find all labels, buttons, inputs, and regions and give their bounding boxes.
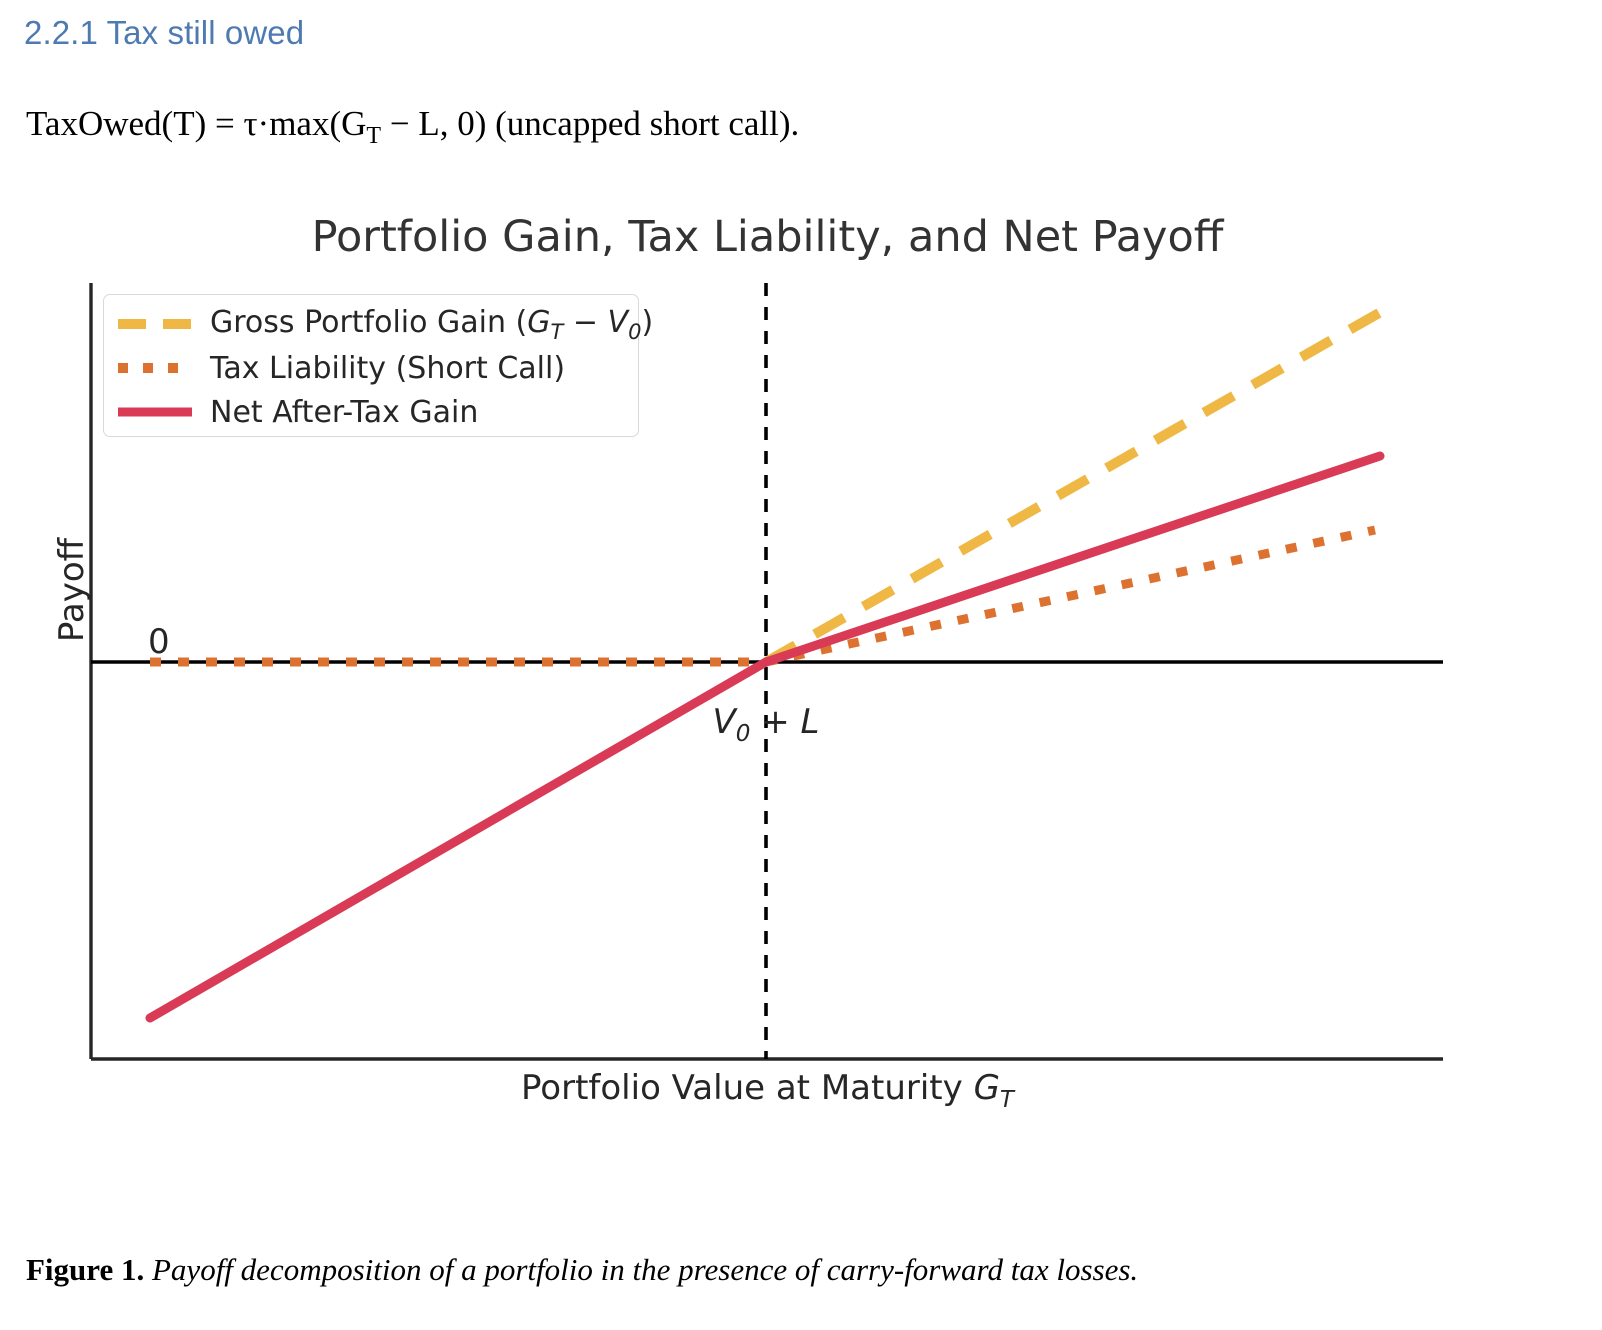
x-axis-label-main: Portfolio Value at Maturity <box>521 1068 974 1108</box>
x-axis-label: Portfolio Value at Maturity GT <box>90 1068 1445 1113</box>
figure-caption: Figure 1. Payoff decomposition of a port… <box>26 1252 1138 1288</box>
x-axis-label-symbol: G <box>974 1068 1000 1108</box>
figure-caption-text: Payoff decomposition of a portfolio in t… <box>144 1252 1138 1287</box>
series-tax-liability <box>150 530 1375 662</box>
chart-legend: Gross Portfolio Gain (GT − V0) Tax Liabi… <box>103 294 639 437</box>
legend-swatch-solid-line-icon <box>116 401 194 423</box>
legend-label-gross-portfolio-gain: Gross Portfolio Gain (GT − V0) <box>210 305 653 344</box>
payoff-chart: Portfolio Gain, Tax Liability, and Net P… <box>0 190 1520 1120</box>
formula-prefix: TaxOwed(T) = τ·max(G <box>26 104 366 143</box>
legend-gross-sym2: V <box>608 305 629 340</box>
y-zero-tick-label: 0 <box>148 622 170 662</box>
legend-gross-sym1: G <box>527 305 550 340</box>
formula-suffix: − L, 0) (uncapped short call). <box>381 104 799 143</box>
legend-gross-pre: Gross Portfolio Gain ( <box>210 305 527 340</box>
strike-label-pre: V <box>713 702 736 742</box>
legend-gross-sub1: T <box>551 320 564 344</box>
legend-swatch-dashed-line-icon <box>116 313 194 335</box>
legend-gross-mid: − <box>563 305 607 340</box>
figure-caption-label: Figure 1. <box>26 1252 144 1287</box>
strike-annotation-label: V0 + L <box>646 702 886 747</box>
strike-label-sub: 0 <box>736 721 751 747</box>
strike-label-post: + L <box>750 702 819 742</box>
section-heading: 2.2.1 Tax still owed <box>24 14 304 52</box>
legend-label-net-after-tax-gain: Net After-Tax Gain <box>210 395 478 430</box>
legend-gross-post: ) <box>641 305 653 340</box>
x-axis-label-subscript: T <box>1000 1087 1014 1113</box>
legend-item-gross-portfolio-gain[interactable]: Gross Portfolio Gain (GT − V0) <box>116 302 653 346</box>
legend-swatch-dotted-line-icon <box>116 357 194 379</box>
legend-item-net-after-tax-gain[interactable]: Net After-Tax Gain <box>116 390 478 434</box>
formula-subscript: T <box>366 123 381 149</box>
legend-item-tax-liability[interactable]: Tax Liability (Short Call) <box>116 346 565 390</box>
tax-owed-formula: TaxOwed(T) = τ·max(GT − L, 0) (uncapped … <box>26 104 799 150</box>
y-axis-label: Payoff <box>52 500 92 680</box>
legend-label-tax-liability: Tax Liability (Short Call) <box>210 351 565 386</box>
legend-gross-sub2: 0 <box>628 320 641 344</box>
